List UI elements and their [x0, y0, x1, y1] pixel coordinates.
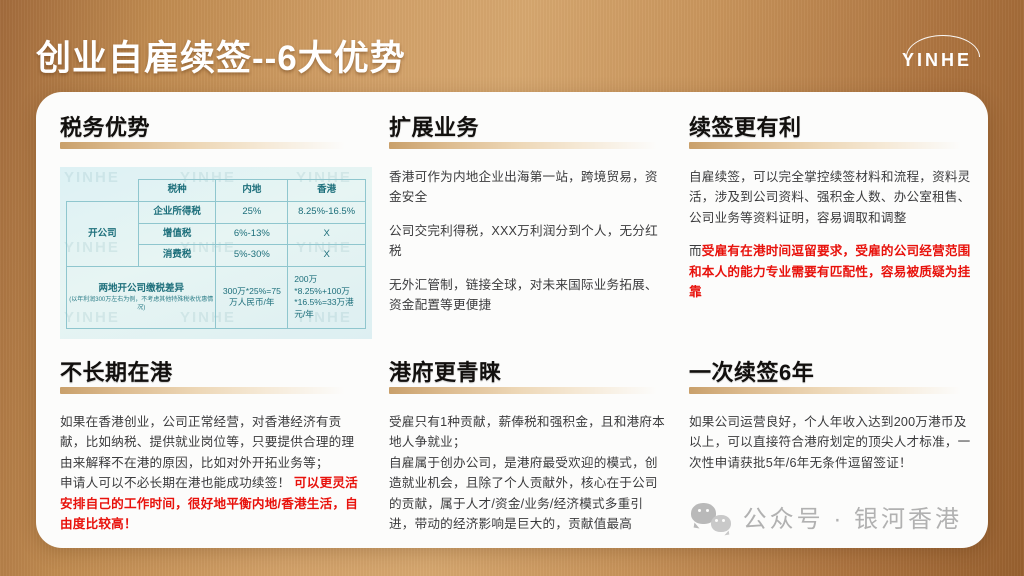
paragraph: 无外汇管制，链接全球，对未来国际业务拓展、资金配置等更便捷: [389, 275, 665, 316]
table-row: 开公司 企业所得税 25% 8.25%-16.5%: [67, 201, 366, 223]
section-heading-label: 续签更有利: [689, 115, 802, 140]
heading-underline: [60, 142, 345, 149]
section-heading-renewal: 续签更有利: [689, 110, 972, 151]
paragraph-highlight: 受雇有在港时间逗留要求，受雇的公司经营范围和本人的能力专业需要有匹配性，容易被质…: [689, 244, 970, 299]
paragraph-lead: 申请人可以不必长期在港也能成功续签！: [60, 476, 294, 490]
section-tax: 税务优势 YINHE YINHE YINHE YINHE YINHE YINHE…: [36, 110, 381, 355]
section-gov-favor: 港府更青睐 受雇只有1种贡献，薪俸税和强积金，且和港府本地人争就业； 自雇属于创…: [381, 355, 681, 548]
wechat-bubble-small: [711, 515, 731, 532]
brand-logo: YINHE: [884, 35, 990, 75]
paragraph: 自雇续签，可以完全掌控续签材料和流程，资料灵活，涉及到公司资料、强积金人数、办公…: [689, 167, 972, 228]
table-header-mainland: 内地: [216, 180, 288, 202]
wechat-official-account-badge: 公众号 · 银河香港: [691, 499, 962, 534]
tax-comparison-table-wrapper: YINHE YINHE YINHE YINHE YINHE YINHE YINH…: [60, 167, 372, 339]
sections-grid: 税务优势 YINHE YINHE YINHE YINHE YINHE YINHE…: [36, 92, 988, 548]
section-heading-tax: 税务优势: [60, 110, 365, 151]
heading-underline: [389, 142, 657, 149]
paragraph: 如果在香港创业，公司正常经营，对香港经济有贡献，比如纳税、提供就业岗位等，只要提…: [60, 412, 365, 473]
table-cell-summary-mainland: 300万*25%=75万人民币/年: [216, 267, 288, 328]
table-cell-summary-label: 两地开公司缴税差异 (以年利润300万左右为例，不考虑其他特殊税收优惠情况): [67, 267, 216, 328]
heading-underline: [689, 387, 961, 394]
section-renewal: 续签更有利 自雇续签，可以完全掌控续签材料和流程，资料灵活，涉及到公司资料、强积…: [681, 110, 988, 355]
table-cell-tax-type: 增值税: [138, 223, 216, 245]
table-cell-hongkong: X: [288, 245, 366, 267]
summary-note-text: (以年利润300万左右为例，不考虑其他特殊税收优惠情况): [69, 297, 213, 312]
paragraph: 受雇只有1种贡献，薪俸税和强积金，且和港府本地人争就业；: [389, 412, 665, 453]
table-row-summary: 两地开公司缴税差异 (以年利润300万左右为例，不考虑其他特殊税收优惠情况) 3…: [67, 267, 366, 328]
paragraph: 如果公司运营良好，个人年收入达到200万港币及以上，可以直接符合港府划定的顶尖人…: [689, 412, 972, 473]
wechat-account-label: 公众号 · 银河香港: [743, 499, 962, 534]
table-cell-hongkong: X: [288, 223, 366, 245]
wechat-icon: [691, 502, 731, 532]
table-cell-empty: [67, 180, 139, 202]
section-not-long-in-hk: 不长期在港 如果在香港创业，公司正常经营，对香港经济有贡献，比如纳税、提供就业岗…: [36, 355, 381, 548]
summary-label-text: 两地开公司缴税差异: [98, 283, 184, 294]
paragraph-highlighted: 申请人可以不必长期在港也能成功续签！ 可以更灵活安排自己的工作时间，很好地平衡内…: [60, 473, 365, 534]
heading-underline: [689, 142, 961, 149]
table-cell-mainland: 5%-30%: [216, 245, 288, 267]
heading-underline: [60, 387, 345, 394]
section-heading-gov-favor: 港府更青睐: [389, 355, 665, 396]
section-heading-expand: 扩展业务: [389, 110, 665, 151]
section-heading-label: 税务优势: [60, 115, 150, 140]
section-heading-not-long-in-hk: 不长期在港: [60, 355, 365, 396]
page-title: 创业自雇续签--6大优势: [36, 30, 406, 81]
section-heading-label: 扩展业务: [389, 115, 479, 140]
section-heading-label: 不长期在港: [60, 360, 173, 385]
section-heading-label: 一次续签6年: [689, 360, 814, 385]
table-cell-summary-hongkong: 200万*8.25%+100万*16.5%=33万港元/年: [288, 267, 366, 328]
brand-wordmark: YINHE: [884, 50, 990, 71]
paragraph-highlighted: 而受雇有在港时间逗留要求，受雇的公司经营范围和本人的能力专业需要有匹配性，容易被…: [689, 241, 972, 302]
table-header-hongkong: 香港: [288, 180, 366, 202]
table-cell-mainland: 6%-13%: [216, 223, 288, 245]
table-cell-tax-type: 消费税: [138, 245, 216, 267]
section-heading-label: 港府更青睐: [389, 360, 502, 385]
table-header-tax-type: 税种: [138, 180, 216, 202]
paragraph-lead: 而: [689, 244, 702, 258]
tax-comparison-table: 税种 内地 香港 开公司 企业所得税 25% 8.25%-16.5% 增值税: [66, 179, 366, 329]
table-cell-tax-type: 企业所得税: [138, 201, 216, 223]
table-cell-hongkong: 8.25%-16.5%: [288, 201, 366, 223]
paragraph: 香港可作为内地企业出海第一站，跨境贸易，资金安全: [389, 167, 665, 208]
paragraph: 自雇属于创办公司，是港府最受欢迎的模式，创造就业机会，且除了个人贡献外，核心在于…: [389, 453, 665, 535]
table-rowgroup-label: 开公司: [67, 201, 139, 266]
heading-underline: [389, 387, 657, 394]
table-row-header: 税种 内地 香港: [67, 180, 366, 202]
section-heading-six-years: 一次续签6年: [689, 355, 972, 396]
table-cell-mainland: 25%: [216, 201, 288, 223]
content-card: 税务优势 YINHE YINHE YINHE YINHE YINHE YINHE…: [36, 92, 988, 548]
paragraph: 公司交完利得税，XXX万利润分到个人，无分红税: [389, 221, 665, 262]
section-expand: 扩展业务 香港可作为内地企业出海第一站，跨境贸易，资金安全 公司交完利得税，XX…: [381, 110, 681, 355]
